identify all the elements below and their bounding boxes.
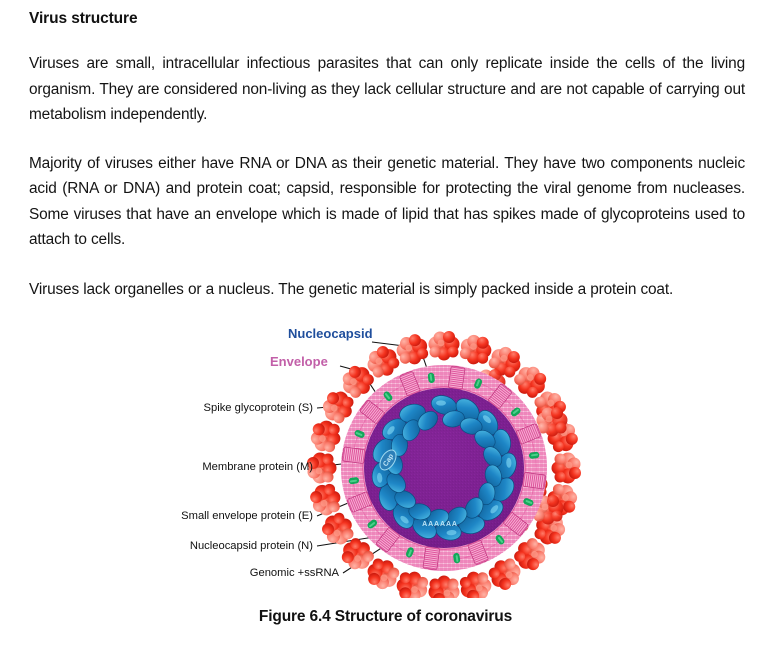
page-title: Virus structure	[29, 8, 745, 30]
document-page: Virus structure Viruses are small, intra…	[0, 0, 771, 654]
label-spike-glycoprotein: Spike glycoprotein (S)	[204, 402, 314, 414]
paragraph-2: Majority of viruses either have RNA or D…	[29, 151, 745, 253]
label-genomic-ssrna: Genomic +ssRNA	[250, 567, 340, 579]
label-nucleocapsid-protein: Nucleocapsid protein (N)	[190, 540, 313, 552]
spacer	[29, 30, 745, 51]
label-small-envelope-protein: Small envelope protein (E)	[181, 510, 313, 522]
figure-caption: Figure 6.4 Structure of coronavirus	[0, 608, 771, 626]
poly-a-label: AAAAAA	[422, 521, 458, 528]
coronavirus-figure: Cap AAAAAA Nucleocapsid Envelope Spike g…	[0, 308, 771, 598]
paragraph-3: Viruses lack organelles or a nucleus. Th…	[29, 277, 745, 303]
coronavirus-diagram-svg: Cap AAAAAA Nucleocapsid Envelope Spike g…	[0, 308, 771, 598]
callout-nucleocapsid: Nucleocapsid	[288, 326, 373, 341]
spacer	[29, 128, 745, 151]
paragraph-1: Viruses are small, intracellular infecti…	[29, 51, 745, 128]
document-body: Virus structure Viruses are small, intra…	[29, 8, 745, 302]
spacer	[29, 253, 745, 277]
virus-particle: Cap AAAAAA	[307, 331, 581, 598]
label-membrane-protein: Membrane protein (M)	[202, 461, 313, 473]
callout-envelope: Envelope	[270, 354, 328, 369]
